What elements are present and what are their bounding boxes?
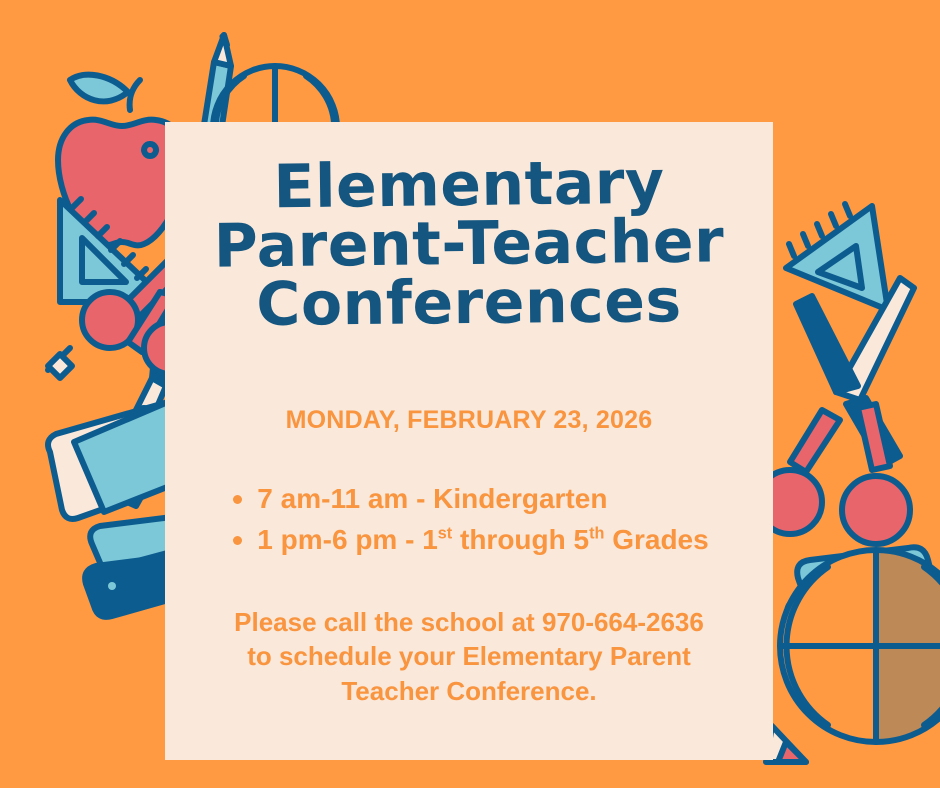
eraser-icon — [785, 601, 937, 731]
schedule-line-2-sup-1: st — [438, 525, 452, 543]
contact-line-2: to schedule your Elementary Parent — [199, 639, 739, 674]
list-item: 1 pm-6 pm - 1st through 5th Grades — [229, 520, 708, 561]
schedule-line-2-sup-2: th — [589, 525, 604, 543]
title-line-3: Conferences — [199, 271, 739, 335]
scissors-icon — [758, 278, 914, 544]
poster-flyer: .o { stroke:#0D5C8F; stroke-width:6; str… — [0, 0, 940, 788]
list-item: 7 am-11 am - Kindergarten — [229, 479, 708, 520]
event-date: MONDAY, FEBRUARY 23, 2026 — [199, 406, 739, 435]
page-title: Elementary Parent-Teacher Conferences — [199, 148, 739, 332]
schedule-line-2-part-c: Grades — [604, 524, 708, 555]
stapler-icon — [787, 547, 940, 655]
contact-line-3: Teacher Conference. — [199, 674, 739, 709]
schedule-list: 7 am-11 am - Kindergarten 1 pm-6 pm - 1s… — [229, 479, 708, 560]
announcement-card: Elementary Parent-Teacher Conferences MO… — [165, 122, 773, 760]
contact-instructions: Please call the school at 970-664-2636 t… — [199, 605, 739, 709]
bullet-dot-icon — [233, 495, 242, 504]
bullet-dot-icon — [233, 536, 242, 545]
schedule-line-2-part-b: through 5 — [452, 524, 589, 555]
basketball-icon — [780, 550, 940, 742]
triangle-ruler-icon — [786, 204, 888, 310]
triangle-ruler-icon — [60, 199, 168, 302]
schedule-line-1-text: 7 am-11 am - Kindergarten — [257, 483, 607, 514]
schedule-line-2-part-a: 1 pm-6 pm - 1 — [257, 524, 437, 555]
contact-line-1: Please call the school at 970-664-2636 — [199, 605, 739, 640]
